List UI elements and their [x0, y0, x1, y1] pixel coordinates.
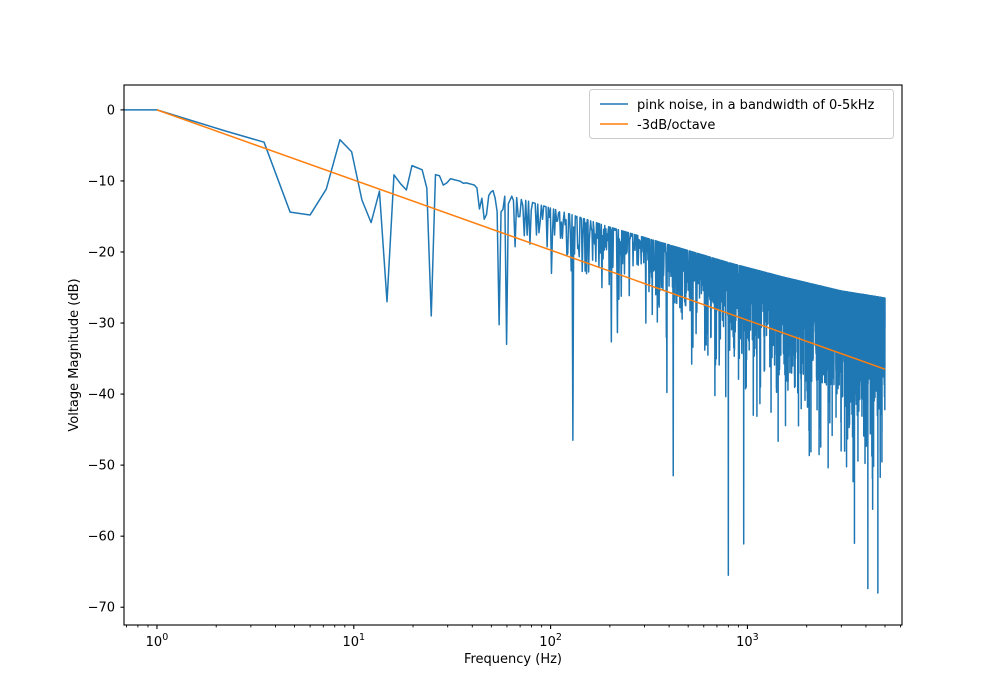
y-tick-label: −60 — [88, 530, 115, 545]
legend-background — [590, 90, 894, 139]
figure-canvas: 0−10−20−30−40−50−60−70 100101102103 Freq… — [0, 0, 1000, 700]
legend-label-pink-noise: pink noise, in a bandwidth of 0-5kHz — [637, 98, 875, 113]
y-axis-label: Voltage Magnitude (dB) — [67, 278, 82, 431]
y-tick-label: −50 — [88, 459, 115, 474]
y-tick-label: −20 — [88, 245, 115, 260]
y-tick-label: −40 — [88, 388, 115, 403]
y-tick-label: 0 — [107, 103, 115, 118]
x-axis-label: Frequency (Hz) — [464, 652, 562, 667]
legend-label-minus3db: -3dB/octave — [637, 118, 715, 133]
pink-noise-spectrum-chart: 0−10−20−30−40−50−60−70 100101102103 Freq… — [0, 0, 1000, 700]
legend[interactable]: pink noise, in a bandwidth of 0-5kHz -3d… — [590, 90, 894, 139]
y-tick-label: −10 — [88, 174, 115, 189]
axes-area: 0−10−20−30−40−50−60−70 100101102103 — [88, 85, 902, 650]
y-tick-label: −30 — [88, 317, 115, 332]
y-tick-label: −70 — [88, 601, 115, 616]
